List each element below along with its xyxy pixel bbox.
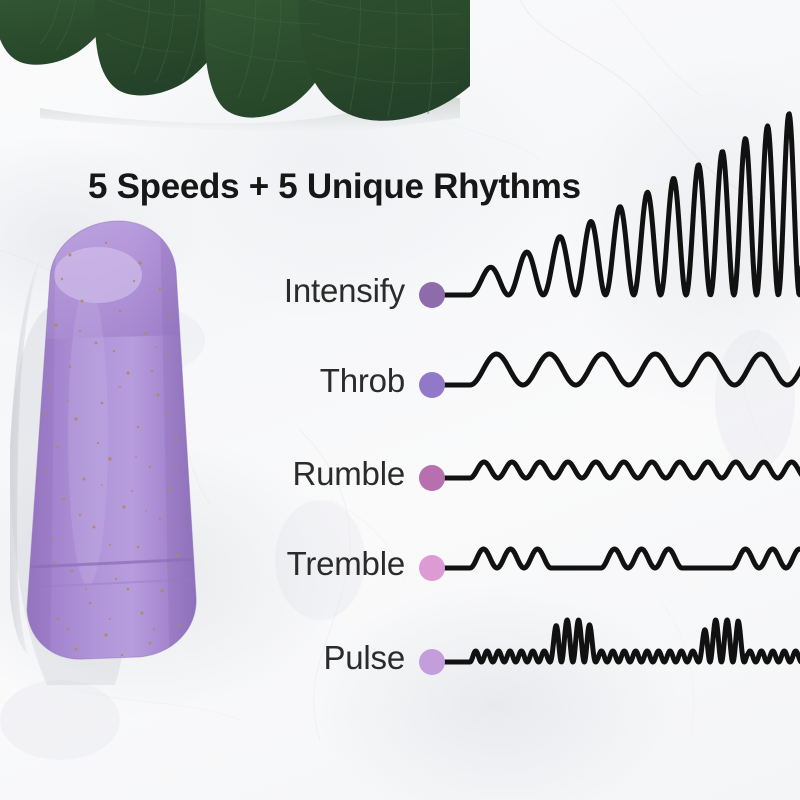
rhythm-label-intensify: Intensify [175, 272, 405, 310]
rhythm-label-tremble: Tremble [175, 545, 405, 583]
page-title: 5 Speeds + 5 Unique Rhythms [88, 167, 728, 207]
rhythm-label-throb: Throb [175, 362, 405, 400]
product-feature-graphic: 5 Speeds + 5 Unique Rhythms Intensify Th… [0, 0, 800, 800]
rhythm-label-rumble: Rumble [175, 455, 405, 493]
monstera-leaf [0, 0, 470, 140]
rhythm-label-pulse: Pulse [175, 639, 405, 677]
